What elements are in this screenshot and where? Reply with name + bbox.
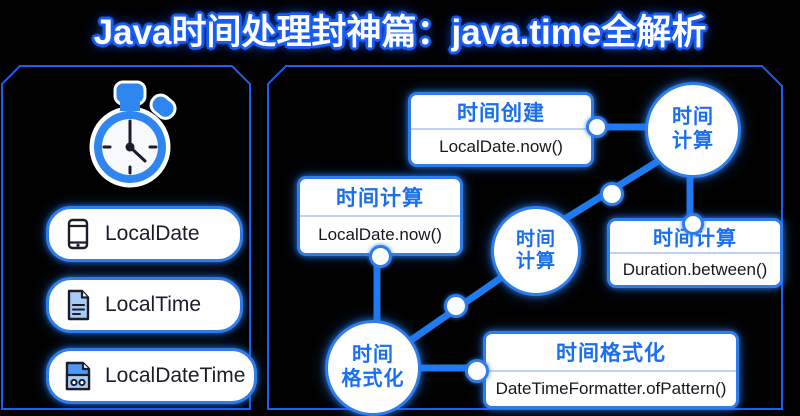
card-header: 时间格式化 bbox=[486, 334, 736, 372]
card-body: Duration.between() bbox=[610, 254, 780, 285]
node-label-line1: 时间 bbox=[352, 344, 394, 368]
node-label-line2: 计算 bbox=[672, 130, 714, 154]
node-time-format[interactable]: 时间 格式化 bbox=[325, 320, 421, 416]
connector-dot bbox=[600, 182, 624, 206]
card-time-create[interactable]: 时间创建 LocalDate.now() bbox=[408, 92, 594, 167]
card-header: 时间计算 bbox=[300, 179, 460, 217]
node-label-line2: 格式化 bbox=[342, 368, 405, 392]
connector-dot bbox=[444, 294, 468, 318]
card-body: DateTimeFormatter.ofPattern() bbox=[486, 372, 736, 406]
infographic-canvas: Java时间处理封神篇：java.time全解析 bbox=[0, 0, 800, 409]
card-time-format[interactable]: 时间格式化 DateTimeFormatter.ofPattern() bbox=[483, 331, 739, 409]
node-label-line2: 计算 bbox=[516, 251, 556, 273]
card-time-calc-localdate[interactable]: 时间计算 LocalDate.now() bbox=[297, 176, 463, 256]
connector-dot bbox=[465, 359, 489, 383]
node-label-line1: 时间 bbox=[672, 106, 714, 130]
node-label-line1: 时间 bbox=[516, 229, 556, 251]
card-body: LocalDate.now() bbox=[411, 130, 591, 164]
node-time-calc-middle[interactable]: 时间 计算 bbox=[491, 206, 581, 296]
card-header: 时间创建 bbox=[411, 95, 591, 130]
connector-dot bbox=[586, 116, 608, 138]
connector-dot bbox=[682, 213, 704, 235]
node-time-calc-top[interactable]: 时间 计算 bbox=[645, 82, 741, 178]
connector-dot bbox=[369, 245, 392, 268]
